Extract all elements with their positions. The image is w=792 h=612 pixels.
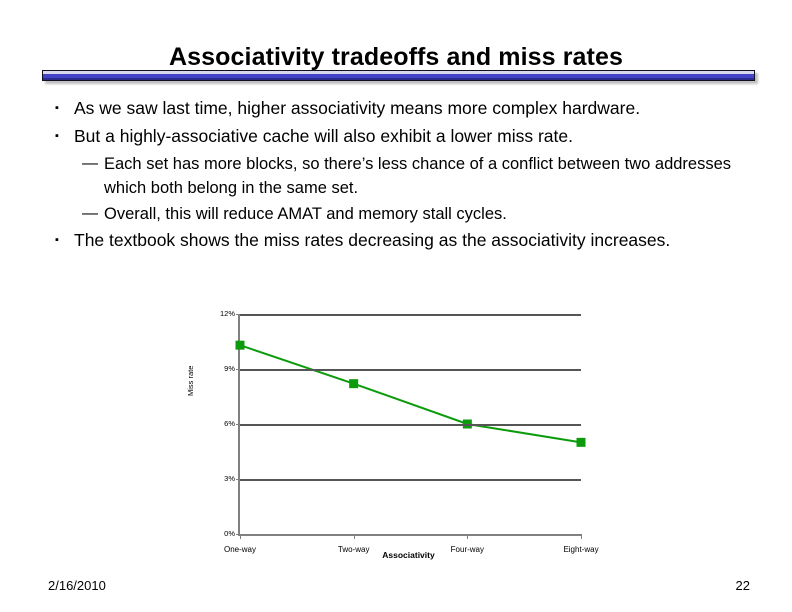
chart-series-line — [240, 345, 581, 442]
chart-data-point-marker — [577, 438, 586, 447]
chart-x-tick-mark — [240, 534, 241, 539]
chart-x-tick-mark — [581, 534, 582, 539]
chart-y-tick-label: 3% — [196, 475, 240, 483]
page-title: Associativity tradeoffs and miss rates — [36, 42, 756, 72]
chart-gridline — [240, 424, 581, 426]
list-item-text: As we saw last time, higher associativit… — [74, 96, 755, 121]
chart-gridline — [240, 369, 581, 371]
bullet-list: ▪ As we saw last time, higher associativ… — [50, 96, 755, 256]
chart-y-tick-label: 6% — [196, 420, 240, 428]
chart-x-tick-mark — [467, 534, 468, 539]
title-divider-bar — [42, 70, 755, 81]
miss-rate-chart: Miss rate 0%3%6%9%12%One-wayTwo-wayFour-… — [190, 300, 590, 562]
list-item-text: The textbook shows the miss rates decrea… — [74, 228, 755, 253]
chart-gridline — [240, 479, 581, 481]
list-item: — Overall, this will reduce AMAT and mem… — [82, 202, 755, 226]
list-item-text: But a highly-associative cache will also… — [74, 124, 755, 149]
chart-data-point-marker — [349, 379, 358, 388]
chart-plot-area: 0%3%6%9%12%One-wayTwo-wayFour-wayEight-w… — [238, 314, 581, 536]
chart-data-point-marker — [236, 341, 245, 350]
dash-bullet-icon: — — [82, 152, 104, 176]
chart-y-axis-title: Miss rate — [186, 366, 195, 396]
chart-x-tick-mark — [354, 534, 355, 539]
chart-gridline — [240, 314, 581, 316]
square-bullet-icon: ▪ — [50, 228, 74, 253]
list-item: ▪ The textbook shows the miss rates decr… — [50, 228, 755, 253]
slide-canvas: { "slide": { "title": "Associativity tra… — [0, 0, 792, 612]
chart-y-tick-label: 12% — [196, 310, 240, 318]
list-item-text: Each set has more blocks, so there’s les… — [104, 152, 755, 200]
chart-y-tick-label: 0% — [196, 530, 240, 538]
footer-date: 2/16/2010 — [48, 578, 106, 594]
chart-x-axis-title: Associativity — [238, 550, 579, 560]
dash-bullet-icon: — — [82, 202, 104, 226]
square-bullet-icon: ▪ — [50, 124, 74, 149]
footer-page-number: 22 — [736, 578, 750, 594]
list-item: ▪ But a highly-associative cache will al… — [50, 124, 755, 149]
list-item-text: Overall, this will reduce AMAT and memor… — [104, 202, 755, 226]
square-bullet-icon: ▪ — [50, 96, 74, 121]
list-item: ▪ As we saw last time, higher associativ… — [50, 96, 755, 121]
chart-y-tick-label: 9% — [196, 365, 240, 373]
list-item: — Each set has more blocks, so there’s l… — [82, 152, 755, 200]
